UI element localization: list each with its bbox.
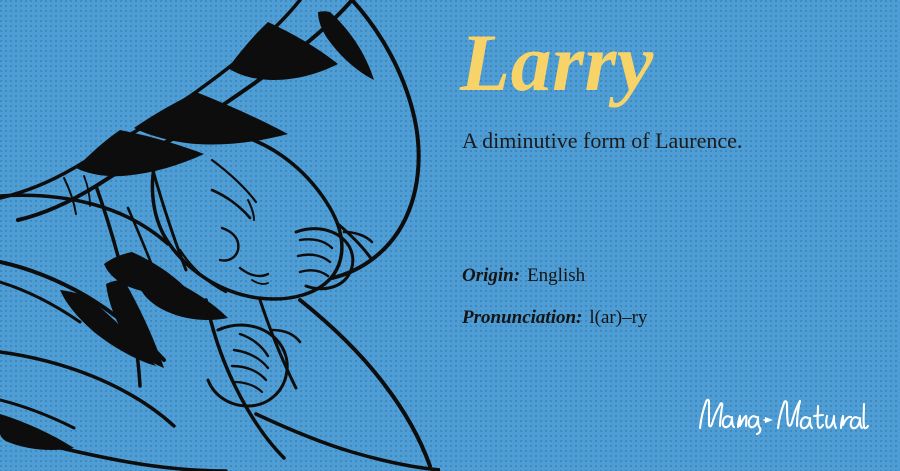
fact-row-pronunciation: Pronunciation:l(ar)–ry bbox=[462, 308, 862, 329]
fact-row-origin: Origin:English bbox=[462, 266, 862, 287]
name-facts-list: Origin:English Pronunciation:l(ar)–ry bbox=[462, 266, 862, 350]
pronunciation-label: Pronunciation: bbox=[462, 307, 582, 328]
pronunciation-value: l(ar)–ry bbox=[589, 307, 647, 328]
origin-value: English bbox=[527, 265, 585, 286]
mama-natural-logo[interactable]: Mama Natural bbox=[694, 392, 870, 440]
sleeping-baby-illustration bbox=[0, 0, 440, 471]
origin-label: Origin: bbox=[462, 265, 520, 286]
baby-name-card: Larry A diminutive form of Laurence. Ori… bbox=[0, 0, 900, 471]
page-title: Larry bbox=[460, 22, 654, 104]
name-meaning-text: A diminutive form of Laurence. bbox=[462, 128, 742, 154]
